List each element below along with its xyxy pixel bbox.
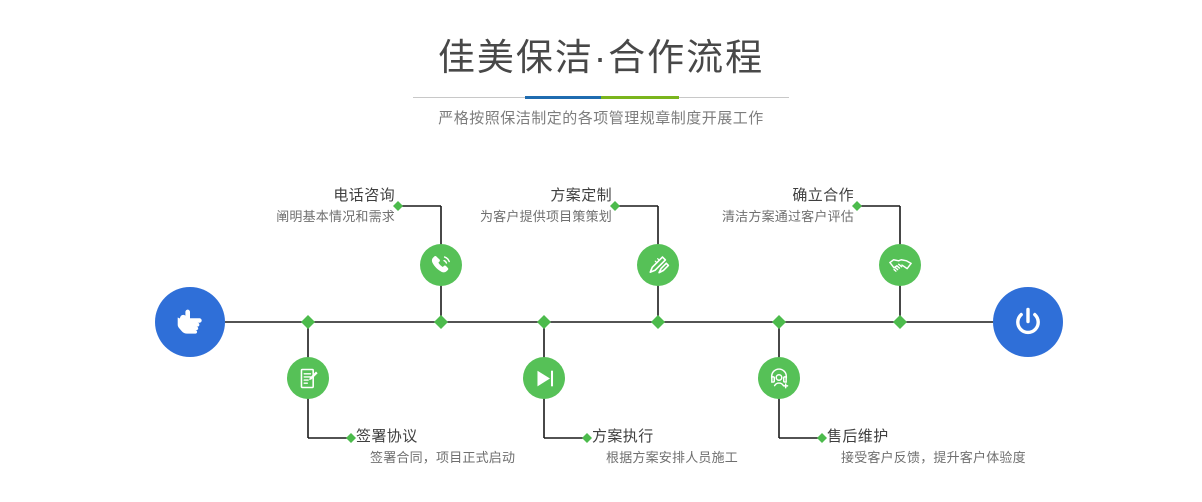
flow-infographic: 佳美保洁·合作流程 严格按照保洁制定的各项管理规章制度开展工作 xyxy=(0,0,1202,502)
pencil-ruler-icon xyxy=(645,252,671,278)
step-label-4: 方案执行 根据方案安排人员施工 xyxy=(592,427,842,467)
step-title-2: 签署协议 xyxy=(356,427,606,446)
step-node-4[interactable] xyxy=(523,357,565,399)
step-node-2[interactable] xyxy=(287,357,329,399)
step-title-5: 确立合作 xyxy=(620,186,854,205)
phone-call-icon xyxy=(428,252,454,278)
step-label-5: 确立合作 清洁方案通过客户评估 xyxy=(620,186,854,226)
power-icon xyxy=(1008,302,1048,342)
step-desc-4: 根据方案安排人员施工 xyxy=(592,449,842,467)
step-label-1: 电话咨询 阐明基本情况和需求 xyxy=(150,186,395,226)
process-flow-diagram: 电话咨询 阐明基本情况和需求 方案定制 为客户提供项目策策划 确立合作 清洁方案… xyxy=(0,0,1202,502)
handshake-icon xyxy=(887,252,914,279)
step-desc-6: 接受客户反馈，提升客户体验度 xyxy=(827,449,1102,467)
customer-support-icon xyxy=(766,365,792,391)
contract-edit-icon xyxy=(296,366,321,391)
step-label-6: 售后维护 接受客户反馈，提升客户体验度 xyxy=(827,427,1102,467)
step-title-3: 方案定制 xyxy=(375,186,612,205)
step-node-1[interactable] xyxy=(420,244,462,286)
step-desc-5: 清洁方案通过客户评估 xyxy=(620,208,854,226)
flow-start-node[interactable] xyxy=(155,287,225,357)
step-title-6: 售后维护 xyxy=(827,427,1102,446)
step-desc-2: 签署合同，项目正式启动 xyxy=(356,449,606,467)
play-execute-icon xyxy=(532,366,557,391)
flow-end-node[interactable] xyxy=(993,287,1063,357)
step-title-4: 方案执行 xyxy=(592,427,842,446)
step-node-6[interactable] xyxy=(758,357,800,399)
step-title-1: 电话咨询 xyxy=(150,186,395,205)
step-label-3: 方案定制 为客户提供项目策策划 xyxy=(375,186,612,226)
step-label-2: 签署协议 签署合同，项目正式启动 xyxy=(356,427,606,467)
step-desc-3: 为客户提供项目策策划 xyxy=(375,208,612,226)
step-node-5[interactable] xyxy=(879,244,921,286)
step-node-3[interactable] xyxy=(637,244,679,286)
step-desc-1: 阐明基本情况和需求 xyxy=(150,208,395,226)
pointing-hand-icon xyxy=(170,302,210,342)
